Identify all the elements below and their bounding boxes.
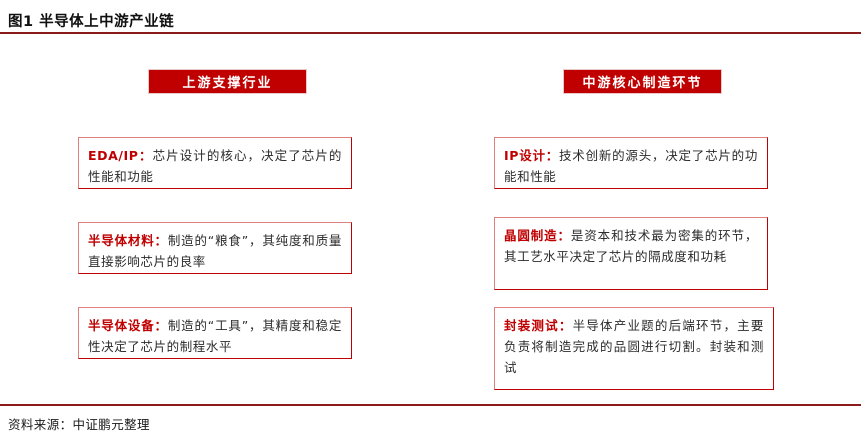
node-term: IP设计： xyxy=(504,148,559,163)
figure-container: 图1 半导体上中游产业链 上游支撑行业 中游核心制造环节 EDA/IP：芯片设计… xyxy=(0,0,861,441)
node-text: 半导体材料：制造的“粮食”，其纯度和质量直接影响芯片的良率 xyxy=(88,230,342,272)
column-banner-upstream: 上游支撑行业 xyxy=(148,69,307,94)
column-banner-upstream-label: 上游支撑行业 xyxy=(182,72,272,91)
node-term: 半导体设备： xyxy=(88,318,168,333)
node-text: IP设计：技术创新的源头，决定了芯片的功能和性能 xyxy=(504,145,758,187)
title-divider-rule xyxy=(0,32,861,34)
source-text: 资料来源：中证鹏元整理 xyxy=(8,414,150,433)
node-box-eda-ip: EDA/IP：芯片设计的核心，决定了芯片的性能和功能 xyxy=(78,137,352,189)
node-box-semiconductor-materials: 半导体材料：制造的“粮食”，其纯度和质量直接影响芯片的良率 xyxy=(78,222,352,274)
node-term: 半导体材料： xyxy=(88,233,168,248)
node-box-ip-design: IP设计：技术创新的源头，决定了芯片的功能和性能 xyxy=(494,137,768,189)
node-box-packaging-testing: 封装测试：半导体产业题的后端环节，主要负责将制造完成的品圆进行切割。封装和测试 xyxy=(494,307,774,390)
footer-divider-rule xyxy=(0,404,861,406)
figure-title-bar: 图1 半导体上中游产业链 xyxy=(8,8,853,32)
node-term: EDA/IP： xyxy=(88,148,153,163)
node-text: 晶圆制造：是资本和技术最为密集的环节，其工艺水平决定了芯片的隔成度和功耗 xyxy=(504,225,758,267)
node-term: 封装测试： xyxy=(504,318,573,333)
column-banner-midstream-label: 中游核心制造环节 xyxy=(582,72,702,91)
page-title: 图1 半导体上中游产业链 xyxy=(8,10,174,31)
column-banner-midstream: 中游核心制造环节 xyxy=(563,69,722,94)
node-term: 晶圆制造： xyxy=(504,228,571,243)
node-text: 封装测试：半导体产业题的后端环节，主要负责将制造完成的品圆进行切割。封装和测试 xyxy=(504,315,764,378)
node-box-semiconductor-equipment: 半导体设备：制造的“工具”，其精度和稳定性决定了芯片的制程水平 xyxy=(78,307,352,359)
node-box-wafer-manufacturing: 晶圆制造：是资本和技术最为密集的环节，其工艺水平决定了芯片的隔成度和功耗 xyxy=(494,217,768,290)
node-text: 半导体设备：制造的“工具”，其精度和稳定性决定了芯片的制程水平 xyxy=(88,315,342,357)
figure-source-footer: 资料来源：中证鹏元整理 xyxy=(8,412,150,434)
node-text: EDA/IP：芯片设计的核心，决定了芯片的性能和功能 xyxy=(88,145,342,187)
